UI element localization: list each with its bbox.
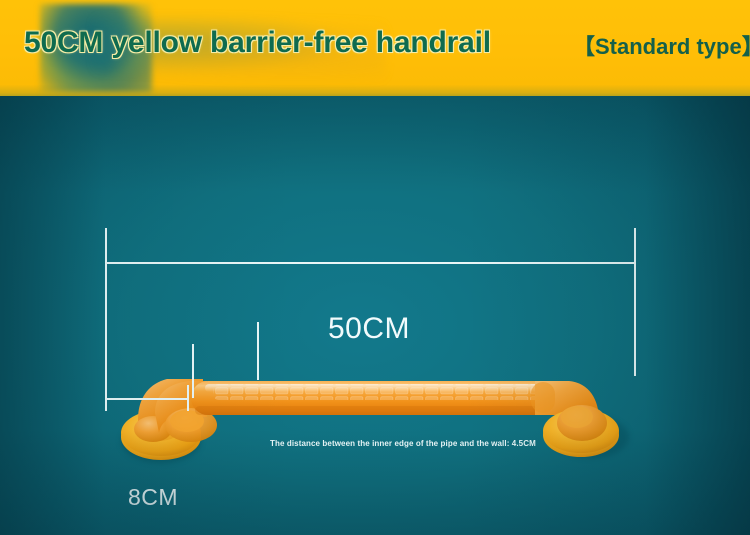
- dim-length-label: 50CM: [328, 312, 410, 346]
- product-type-badge: 【Standard type】: [573, 29, 750, 61]
- callout-line-wall: [257, 322, 259, 380]
- header-banner: 50CM yellow barrier-free handrail 【Stand…: [0, 0, 750, 96]
- dim-depth-label: 8CM: [128, 484, 178, 511]
- wall-distance-note: The distance between the inner edge of t…: [270, 439, 536, 448]
- dim-depth-line: [105, 398, 189, 400]
- bar-highlight: [205, 384, 565, 392]
- product-image-canvas: 50CM yellow barrier-free handrail 【Stand…: [0, 0, 750, 535]
- dim-depth-tick-right: [187, 385, 189, 411]
- dim-length-line: [105, 262, 636, 264]
- handrail-illustration: [95, 351, 655, 481]
- page-title: 50CM yellow barrier-free handrail: [24, 26, 491, 60]
- callout-line-pipe-inner-edge: [192, 344, 194, 398]
- dim-left-extension-line: [105, 228, 107, 406]
- dim-depth-tick-left: [105, 385, 107, 411]
- dim-right-extension-line: [634, 228, 636, 376]
- product-stage: 50CM 8CM The distance between the inner …: [0, 96, 750, 535]
